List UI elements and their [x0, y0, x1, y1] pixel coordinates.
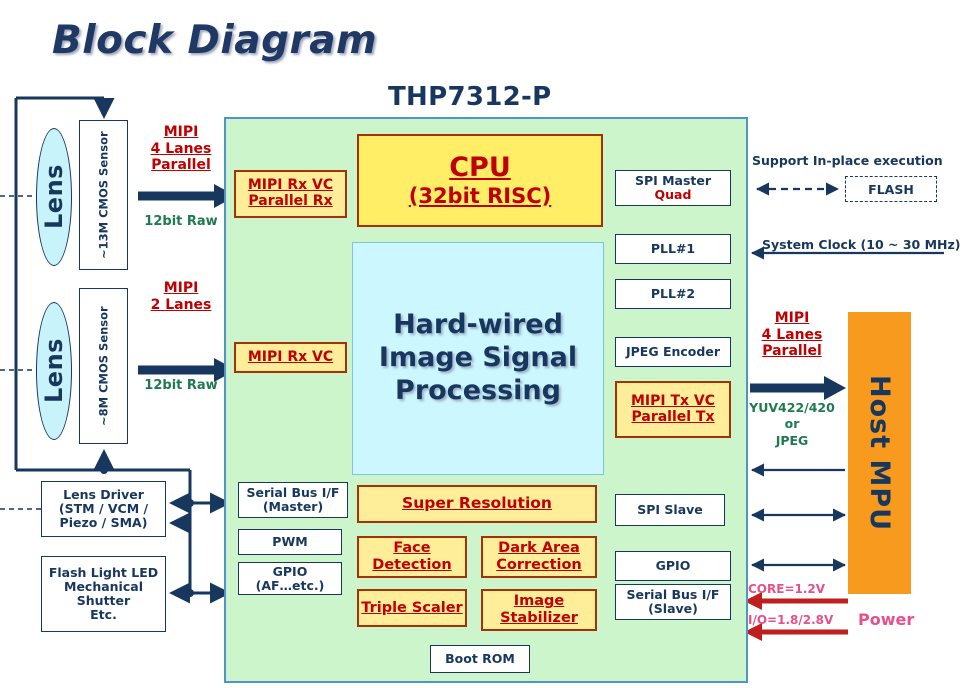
lens-driver-line2: (STM / VCM / — [59, 501, 148, 516]
flash-label: FLASH — [868, 182, 914, 197]
yuv-line3: JPEG — [776, 433, 809, 448]
sbif-slave-sublabel: (Slave) — [627, 602, 720, 616]
triple-scaler-block[interactable]: Triple Scaler — [357, 589, 467, 627]
lens-1-label: Lens — [40, 165, 68, 230]
mipi-tx-vc-parallel-tx-block[interactable]: MIPI Tx VC Parallel Tx — [615, 381, 731, 438]
gpio-right-label: GPIO — [656, 559, 691, 573]
face-detection-label: Face — [372, 540, 451, 557]
isp-line2: Image Signal — [379, 342, 577, 373]
sbif-slave-label: Serial Bus I/F — [627, 587, 720, 602]
sensor-2-label: ~8M CMOS Sensor — [96, 306, 110, 426]
mipi-rx-vc-block[interactable]: MIPI Rx VC — [234, 342, 347, 373]
mipi-rx-vc-parallel-rx-block[interactable]: MIPI Rx VC Parallel Rx — [234, 170, 347, 218]
chip-name-label: THP7312-P — [388, 82, 551, 112]
lens-driver-block[interactable]: Lens Driver (STM / VCM / Piezo / SMA) — [41, 481, 166, 537]
mipi-rx1-sublabel: Parallel Rx — [248, 194, 333, 210]
power-label: Power — [858, 610, 914, 629]
raw-format-2-label: 12bit Raw — [135, 378, 227, 393]
boot-rom-label: Boot ROM — [445, 652, 515, 666]
mipi-rx1-label: MIPI Rx VC — [248, 178, 333, 194]
serial-bus-if-slave-block[interactable]: Serial Bus I/F (Slave) — [615, 584, 731, 620]
sbif-master-sublabel: (Master) — [247, 500, 340, 514]
yuv-line2: or — [785, 416, 800, 431]
triple-scaler-label: Triple Scaler — [361, 600, 462, 617]
lens-driver-line3: Piezo / SMA) — [60, 515, 148, 530]
flash-led-line4: Etc. — [90, 607, 117, 622]
mipi-4lane-parallel-label: MIPI 4 Lanes Parallel — [135, 124, 227, 174]
lens-2-label: Lens — [40, 339, 68, 404]
flash-led-line2: Mechanical — [64, 579, 143, 594]
spi-master-label: SPI Master — [635, 174, 711, 188]
super-resolution-label: Super Resolution — [402, 495, 552, 513]
mipi2-line2: 2 Lanes — [135, 297, 227, 314]
serial-bus-if-master-block[interactable]: Serial Bus I/F (Master) — [238, 482, 348, 518]
mipi-2lane-label: MIPI 2 Lanes — [135, 280, 227, 313]
block-diagram-canvas: Block Diagram THP7312-P CPU (32bit RISC)… — [0, 0, 964, 688]
gpio-left-sublabel: (AF…etc.) — [256, 579, 325, 593]
image-stabilizer-block[interactable]: Image Stabilizer — [481, 589, 597, 631]
host-mpu-block[interactable]: Host MPU — [848, 312, 911, 594]
lens-2: Lens — [36, 302, 72, 440]
mipi2-line1: MIPI — [135, 280, 227, 297]
mipi-tx-sublabel: Parallel Tx — [631, 410, 715, 426]
pll1-block[interactable]: PLL#1 — [615, 234, 731, 264]
host-mpu-label: Host MPU — [864, 375, 895, 531]
cmos-sensor-13m: ~13M CMOS Sensor — [79, 120, 128, 270]
system-clock-label: System Clock (10 ~ 30 MHz) — [762, 237, 960, 252]
mipitx-line3: Parallel — [748, 343, 836, 360]
image-stabilizer-label: Image — [500, 593, 578, 610]
flash-memory-block[interactable]: FLASH — [845, 176, 937, 202]
mipi-tx-4lane-label: MIPI 4 Lanes Parallel — [748, 310, 836, 360]
jpeg-encoder-label: JPEG Encoder — [626, 345, 720, 359]
dark-area-label: Dark Area — [496, 540, 582, 557]
spi-slave-label: SPI Slave — [637, 503, 703, 517]
image-stabilizer-sublabel: Stabilizer — [500, 610, 578, 627]
pll2-block[interactable]: PLL#2 — [615, 279, 731, 309]
flash-led-line3: Shutter — [77, 593, 130, 608]
isp-line1: Hard-wired — [393, 309, 563, 340]
mipitx-line1: MIPI — [748, 310, 836, 327]
gpio-af-block[interactable]: GPIO (AF…etc.) — [238, 562, 342, 595]
mipi1-line1: MIPI — [135, 124, 227, 141]
mipi1-line2: 4 Lanes — [135, 141, 227, 158]
mipi-tx-label: MIPI Tx VC — [631, 394, 715, 410]
lens-driver-line1: Lens Driver — [63, 487, 144, 502]
face-detection-sublabel: Detection — [372, 557, 451, 574]
mipitx-line2: 4 Lanes — [748, 327, 836, 344]
core-voltage-label: CORE=1.2V — [748, 582, 825, 596]
gpio-right-block[interactable]: GPIO — [615, 551, 731, 581]
output-format-label: YUV422/420 or JPEG — [744, 400, 840, 449]
boot-rom-block[interactable]: Boot ROM — [430, 645, 530, 673]
io-voltage-label: I/O=1.8/2.8V — [748, 613, 833, 627]
cpu-sublabel: (32bit RISC) — [409, 185, 552, 208]
page-title: Block Diagram — [52, 18, 377, 63]
sbif-master-label: Serial Bus I/F — [247, 485, 340, 500]
gpio-left-label: GPIO — [273, 564, 308, 579]
face-detection-block[interactable]: Face Detection — [357, 536, 467, 578]
spi-slave-block[interactable]: SPI Slave — [615, 494, 725, 526]
flash-light-led-block[interactable]: Flash Light LED Mechanical Shutter Etc. — [41, 556, 166, 632]
flash-led-line1: Flash Light LED — [49, 565, 158, 580]
mipi-rx2-label: MIPI Rx VC — [248, 350, 333, 366]
dark-area-sublabel: Correction — [496, 557, 582, 574]
jpeg-encoder-block[interactable]: JPEG Encoder — [615, 337, 731, 367]
support-inplace-label: Support In-place execution — [752, 153, 943, 168]
spi-master-block[interactable]: SPI Master Quad — [615, 170, 731, 206]
spi-master-sublabel: Quad — [655, 188, 692, 202]
super-resolution-block[interactable]: Super Resolution — [357, 485, 597, 523]
isp-block[interactable]: Hard-wired Image Signal Processing — [352, 242, 604, 475]
pwm-label: PWM — [272, 535, 307, 549]
dark-area-correction-block[interactable]: Dark Area Correction — [481, 536, 597, 578]
isp-line3: Processing — [395, 375, 561, 406]
cpu-label: CPU — [449, 153, 511, 183]
cmos-sensor-8m: ~8M CMOS Sensor — [79, 288, 128, 444]
cpu-block[interactable]: CPU (32bit RISC) — [357, 134, 603, 227]
lens-1: Lens — [36, 128, 72, 266]
pll1-label: PLL#1 — [651, 242, 695, 256]
yuv-line1: YUV422/420 — [749, 400, 835, 415]
pll2-label: PLL#2 — [651, 287, 695, 301]
raw-format-1-label: 12bit Raw — [135, 214, 227, 229]
sensor-1-label: ~13M CMOS Sensor — [96, 131, 110, 259]
mipi1-line3: Parallel — [135, 157, 227, 174]
pwm-block[interactable]: PWM — [238, 529, 342, 555]
